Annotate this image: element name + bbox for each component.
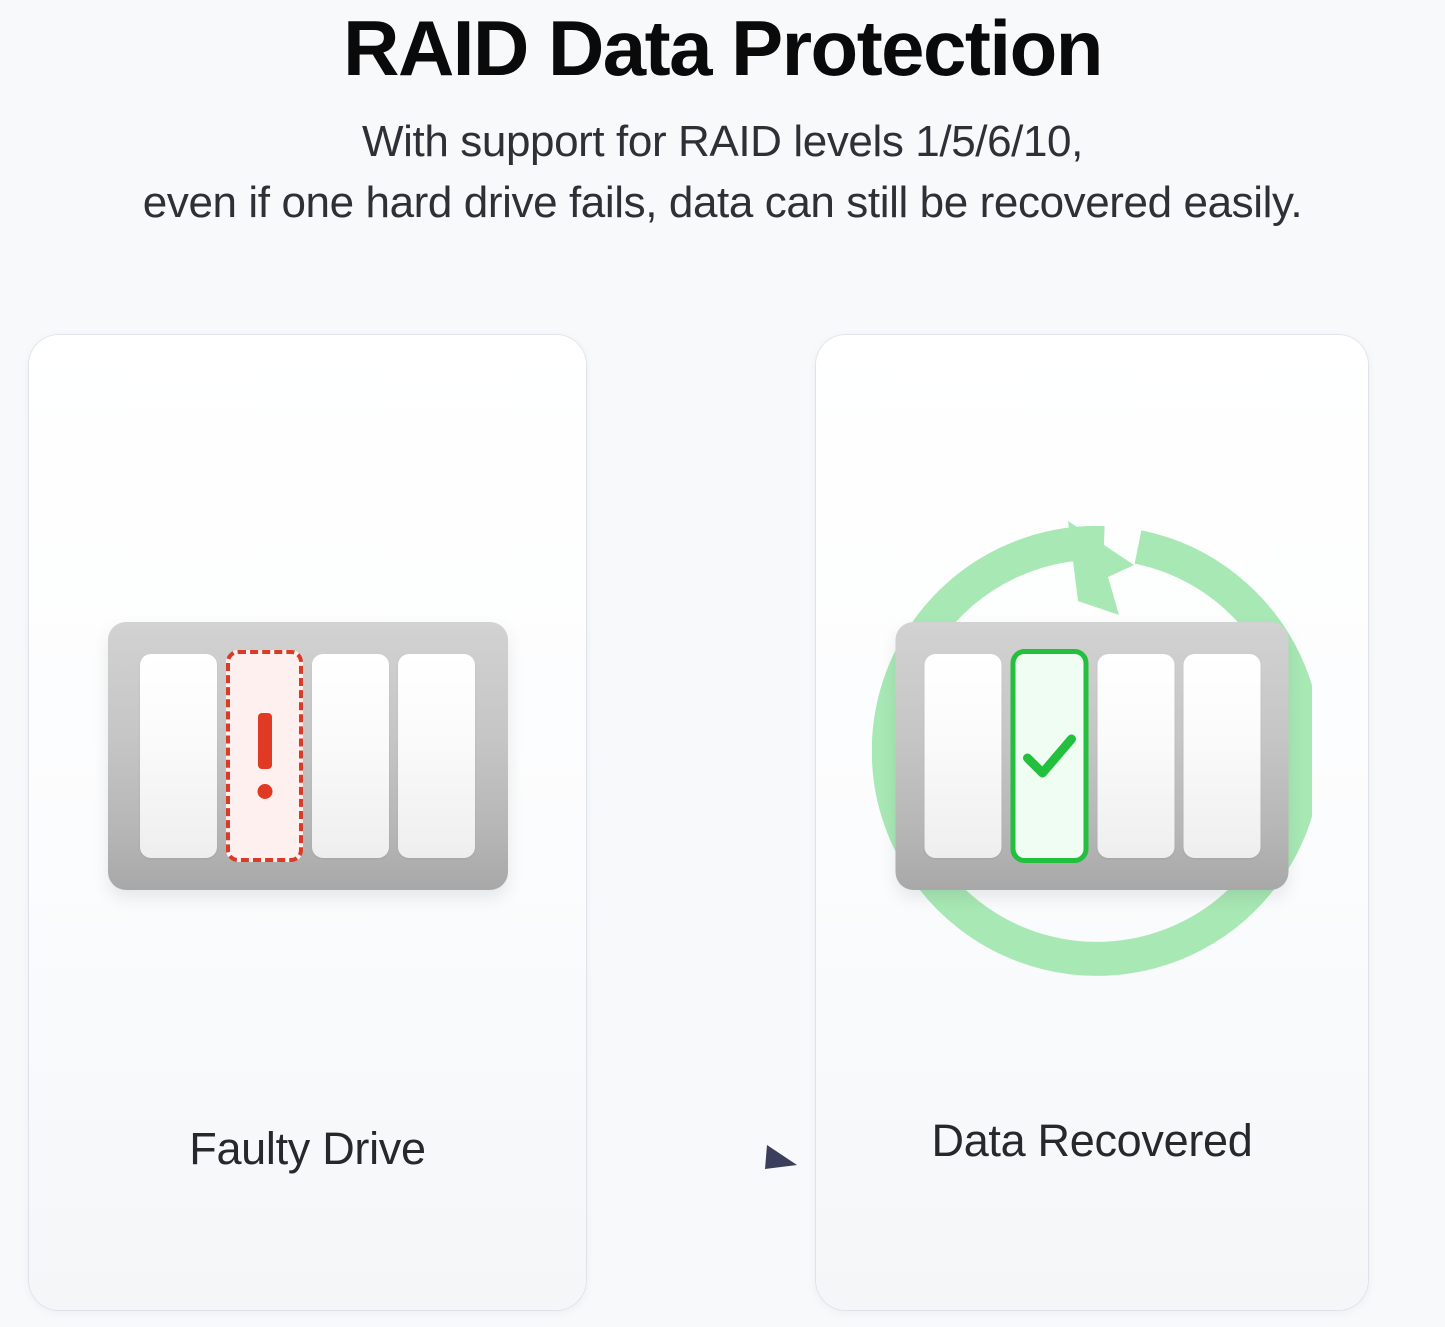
drive-bay-2-faulty — [226, 650, 303, 862]
drive-bay-1 — [924, 654, 1001, 858]
comparison-cards: Faulty Drive — [0, 335, 1445, 1315]
card-data-recovered: Data Recovered — [816, 335, 1368, 1310]
drive-bay-3 — [312, 654, 389, 858]
drive-bay-3 — [1097, 654, 1174, 858]
check-icon — [1021, 732, 1077, 780]
exclamation-icon — [258, 713, 272, 799]
exclamation-stem — [258, 713, 272, 769]
data-recovered-figure — [816, 335, 1368, 1055]
dashed-arrow-right-icon — [605, 1135, 800, 1189]
drive-bay-4 — [1183, 654, 1260, 858]
drive-enclosure-recovered — [896, 622, 1289, 890]
drive-bay-1 — [140, 654, 217, 858]
page-subtitle: With support for RAID levels 1/5/6/10, e… — [0, 90, 1445, 233]
drive-bay-4 — [398, 654, 475, 858]
exclamation-dot — [257, 784, 272, 799]
drive-enclosure-faulty — [108, 622, 508, 890]
card-faulty-drive: Faulty Drive — [29, 335, 586, 1310]
card-label-data-recovered: Data Recovered — [816, 1115, 1368, 1167]
faulty-drive-figure — [29, 335, 586, 1055]
card-label-faulty-drive: Faulty Drive — [29, 1123, 586, 1175]
drive-bay-2-recovered — [1010, 649, 1088, 863]
page-header: RAID Data Protection With support for RA… — [0, 0, 1445, 234]
page-title: RAID Data Protection — [0, 0, 1445, 90]
